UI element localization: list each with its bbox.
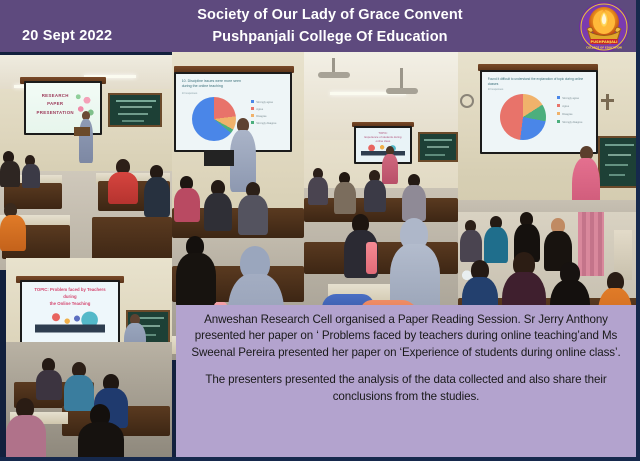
ceiling-fan-icon xyxy=(400,68,403,90)
student-body xyxy=(176,253,216,309)
institution-college-name: Pushpanjali College Of Education xyxy=(120,26,540,48)
slide-heading: Found it difficult to understand the exp… xyxy=(488,77,591,87)
seated-student xyxy=(364,170,386,210)
projection-screen-frame: TOPIC: Problem faced by Teachers duringt… xyxy=(20,280,120,346)
college-logo: PUSHPANJALI COLLEGE OF EDUCATION xyxy=(576,1,632,53)
green-chalkboard xyxy=(418,132,458,162)
student-body xyxy=(238,195,268,235)
seated-student xyxy=(64,362,94,408)
institution-titles: Society of Our Lady of Grace Convent Pus… xyxy=(120,4,540,48)
seated-student xyxy=(402,174,426,218)
student-body xyxy=(6,415,46,458)
seated-student xyxy=(176,236,216,306)
slide-heading: 10. Discipline issues were more seenduri… xyxy=(182,79,285,90)
event-date: 20 Sept 2022 xyxy=(22,28,112,44)
logo-wordmark: PUSHPANJALI xyxy=(591,40,618,44)
event-description-box: Anweshan Research Cell organised a Paper… xyxy=(176,305,636,457)
oil-lamp-emblem-icon: PUSHPANJALI COLLEGE OF EDUCATION xyxy=(576,1,632,53)
seated-student xyxy=(0,151,20,185)
photo-topic-problems-faced-by-teachers: TOPIC: Problem faced by Teachers duringt… xyxy=(6,258,172,458)
seated-student xyxy=(308,168,328,204)
seated-student xyxy=(174,176,200,220)
seated-student xyxy=(460,220,482,260)
poster-header: 20 Sept 2022 Society of Our Lady of Grac… xyxy=(0,0,640,52)
projection-screen: TOPIC: Problem faced by Teachers duringt… xyxy=(22,282,118,344)
student-body xyxy=(0,215,26,251)
ceiling-fan-icon xyxy=(386,88,418,94)
seated-student xyxy=(108,159,138,201)
logo-subtext: COLLEGE OF EDUCATION xyxy=(586,45,622,49)
lectern xyxy=(204,150,234,166)
seated-student xyxy=(204,180,232,228)
student-body xyxy=(460,230,482,262)
student-body xyxy=(108,172,138,204)
seated-student xyxy=(334,172,356,212)
wall-clock-icon xyxy=(460,94,474,108)
slide-responses: 13 responses xyxy=(182,92,198,95)
photo-classroom-research-paper-presentation: RESEARCHPAPERPRESENTATION xyxy=(0,55,172,270)
seated-student xyxy=(544,218,572,268)
student-body xyxy=(0,161,20,187)
slide-heading: RESEARCHPAPERPRESENTATION xyxy=(35,92,76,117)
water-bottle-icon xyxy=(366,242,377,274)
projection-screen-frame: Found it difficult to understand the exp… xyxy=(480,70,598,154)
presentation-poster: RESEARCHPAPERPRESENTATION xyxy=(0,0,640,461)
seated-student xyxy=(238,182,268,232)
green-chalkboard xyxy=(108,93,162,127)
presenter-figure xyxy=(78,111,94,163)
student-body xyxy=(174,188,200,222)
caption-paragraph-1: Anweshan Research Cell organised a Paper… xyxy=(187,312,625,361)
ceiling-fan-icon xyxy=(318,72,350,78)
projection-screen: Found it difficult to understand the exp… xyxy=(482,72,596,152)
student-bench xyxy=(92,217,172,263)
slide-responses: 13 responses xyxy=(488,88,504,91)
slide-illustration-icon xyxy=(35,304,104,336)
seated-student xyxy=(144,165,170,215)
student-body xyxy=(364,180,386,212)
podium xyxy=(74,127,90,136)
student-body xyxy=(36,370,62,400)
chart-legend: Strongly agree Agree Disagree Strongly d… xyxy=(557,96,582,125)
pie-chart xyxy=(500,94,546,140)
student-body xyxy=(78,422,124,458)
seated-student xyxy=(6,398,46,458)
student-body xyxy=(204,193,232,231)
presenter-body xyxy=(79,119,93,163)
seated-student xyxy=(36,358,62,398)
caption-paragraph-2: The presenters presented the analysis of… xyxy=(187,372,625,405)
crucifix-icon xyxy=(601,99,614,102)
crucifix-icon xyxy=(606,94,609,110)
institution-society-name: Society of Our Lady of Grace Convent xyxy=(120,4,540,26)
student-body xyxy=(144,177,170,217)
seated-student xyxy=(78,404,124,458)
green-chalkboard xyxy=(598,136,640,188)
student-body xyxy=(22,164,40,188)
student-body xyxy=(308,177,328,205)
student-body xyxy=(402,185,426,221)
student-body xyxy=(334,182,356,214)
seated-student xyxy=(0,203,26,249)
seated-student xyxy=(22,155,40,187)
